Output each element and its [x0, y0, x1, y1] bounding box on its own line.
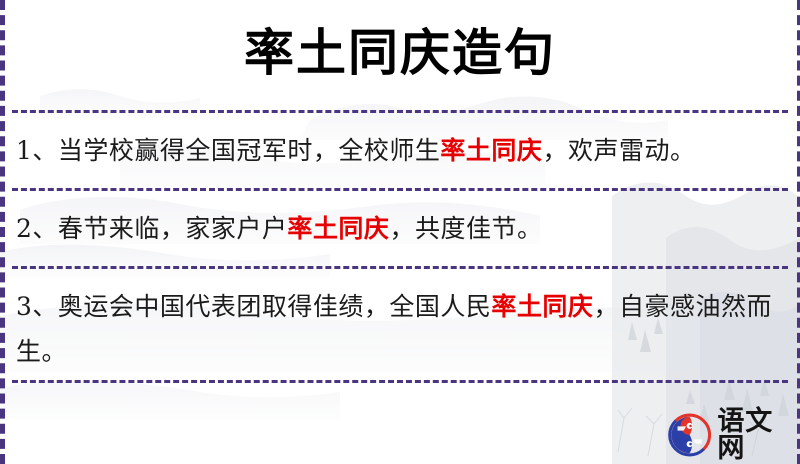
sentence-3-text-before: 奥运会中国代表团取得佳绩，全国人民: [58, 292, 492, 321]
page-title: 率土同庆造句: [0, 22, 800, 85]
sentence-1-text-after: ，欢声雷动。: [542, 136, 695, 165]
sentence-worksheet-page: 率土同庆造句 1、当学校赢得全国冠军时，全校师生率土同庆，欢声雷动。 2、春节来…: [0, 0, 800, 464]
yin-yang-fish-icon: [668, 413, 711, 457]
sentence-3-idiom: 率土同庆: [491, 292, 593, 321]
page-border-left: [0, 0, 5, 464]
example-sentence-1: 1、当学校赢得全国冠军时，全校师生率土同庆，欢声雷动。: [16, 128, 788, 173]
separator-below-title: [12, 110, 788, 113]
site-logo[interactable]: 语文网: [668, 408, 800, 462]
sentence-2-idiom: 率土同庆: [287, 214, 389, 243]
example-sentence-2: 2、春节来临，家家户户率土同庆，共度佳节。: [16, 206, 788, 251]
site-logo-text: 语文网: [717, 408, 800, 462]
sentence-3-number: 3、: [16, 292, 58, 321]
sentence-2-text-before: 春节来临，家家户户: [58, 214, 288, 243]
sentence-2-text-after: ，共度佳节。: [389, 214, 542, 243]
sentence-1-text-before: 当学校赢得全国冠军时，全校师生: [58, 136, 441, 165]
sentence-1-idiom: 率土同庆: [440, 136, 542, 165]
separator-after-sentence-3: [12, 380, 788, 383]
sentence-1-number: 1、: [16, 136, 58, 165]
example-sentence-3: 3、奥运会中国代表团取得佳绩，全国人民率土同庆，自豪感油然而生。: [16, 284, 788, 374]
separator-after-sentence-2: [12, 266, 788, 269]
sentence-2-number: 2、: [16, 214, 58, 243]
separator-after-sentence-1: [12, 188, 788, 191]
